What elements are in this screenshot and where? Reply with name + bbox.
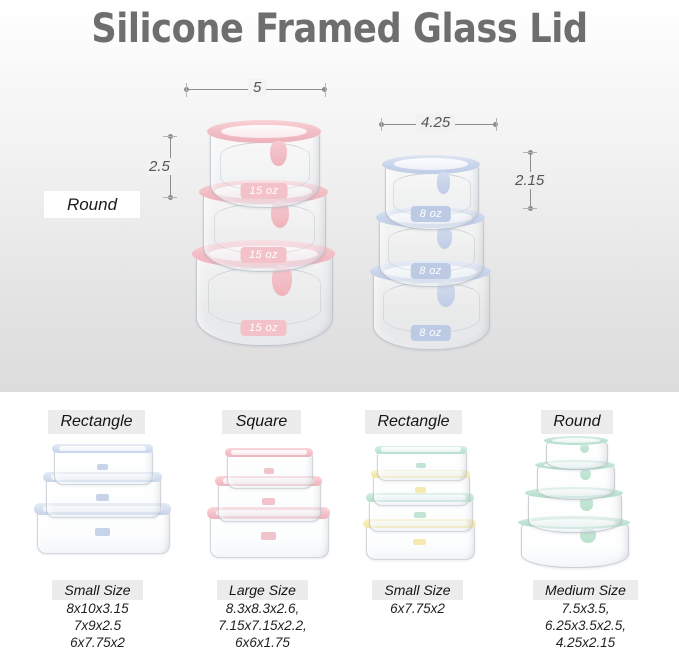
lid-inner (394, 158, 468, 170)
container-lid (225, 448, 313, 457)
size-caption-group-1: Small Size 8x10x3.15 7x9x2.5 6x7.75x2 (20, 580, 175, 651)
lid-knob-icon (270, 141, 286, 167)
capacity-badge: 15 oz (241, 183, 288, 199)
size-dimension: 6x7.75x2 (20, 634, 175, 651)
dimension-value-height-pink: 2.5 (146, 158, 173, 175)
category-label-square: Square (222, 410, 301, 434)
size-title: Large Size (217, 580, 308, 600)
dimension-value-width-blue: 4.25 (416, 114, 455, 131)
size-dimension: 6x6x1.75 (185, 634, 340, 651)
capacity-badge: 8 oz (410, 325, 450, 341)
bottom-section: Rectangle Square Rectangle Round (0, 392, 679, 659)
container-inner-line (208, 267, 321, 326)
lid-inner (59, 446, 147, 451)
category-label-rectangle-2: Rectangle (365, 410, 462, 434)
dimension-value-height-blue: 2.15 (512, 172, 547, 189)
size-caption-group-4: Medium Size 7.5x3.5, 6.25x3.5x2.5, 4.25x… (503, 580, 668, 651)
lid-clip-icon (95, 528, 111, 535)
page-title: Silicone Framed Glass Lid (41, 6, 639, 52)
lid-clip-icon (414, 512, 426, 518)
lid-clip-icon (97, 464, 109, 470)
dimension-value-width-pink: 5 (248, 79, 266, 96)
lid-inner (231, 450, 307, 455)
square-container-pink-small (227, 452, 311, 487)
size-dimension: 7.15x7.15x2.2, (185, 617, 340, 634)
size-title: Small Size (372, 580, 462, 600)
size-dimension: 7x9x2.5 (20, 617, 175, 634)
size-dimension: 4.25x2.15 (503, 634, 668, 651)
container-lid (52, 444, 154, 453)
lid-inner (221, 125, 308, 139)
round-container-pink-top: 15 oz (210, 130, 318, 206)
size-dimension: 8x10x3.15 (20, 600, 175, 617)
lid-clip-icon (264, 468, 274, 474)
lid-inner (552, 438, 600, 443)
rect-container-blue-small (54, 448, 151, 483)
size-caption-group-2: Large Size 8.3x8.3x2.6, 7.15x7.15x2.2, 6… (185, 580, 340, 651)
infographic-page: Silicone Framed Glass Lid Round 5 2.5 (0, 0, 679, 659)
size-title: Medium Size (533, 580, 638, 600)
lid-clip-icon (262, 498, 274, 505)
rect-container-green-top (377, 449, 465, 479)
lid-knob-icon (580, 444, 589, 454)
lid-clip-icon (96, 494, 110, 501)
category-label-round-left: Round (44, 191, 140, 218)
size-dimension: 8.3x8.3x2.6, (185, 600, 340, 617)
capacity-badge: 8 oz (410, 263, 450, 279)
lid-clip-icon (415, 487, 426, 492)
top-section: Silicone Framed Glass Lid Round 5 2.5 (0, 0, 679, 392)
category-label-round-bottom: Round (541, 410, 613, 434)
lid-clip-icon (261, 532, 275, 539)
lid-clip-icon (416, 463, 427, 468)
round-container-green-top (546, 440, 606, 468)
lid-inner (381, 447, 460, 451)
capacity-badge: 15 oz (240, 320, 287, 336)
capacity-badge: 8 oz (411, 206, 451, 222)
round-container-blue-top: 8 oz (385, 163, 477, 228)
container-lid (375, 446, 467, 454)
size-title: Small Size (52, 580, 142, 600)
size-caption-group-3: Small Size 6x7.75x2 (340, 580, 495, 617)
size-dimension: 6x7.75x2 (340, 600, 495, 617)
container-lid (207, 120, 321, 143)
container-lid (382, 155, 480, 175)
container-lid (544, 436, 608, 444)
lid-clip-icon (413, 539, 426, 545)
size-dimension: 6.25x3.5x2.5, (503, 617, 668, 634)
capacity-badge: 15 oz (240, 247, 287, 263)
category-label-rectangle-1: Rectangle (48, 410, 145, 434)
size-dimension: 7.5x3.5, (503, 600, 668, 617)
